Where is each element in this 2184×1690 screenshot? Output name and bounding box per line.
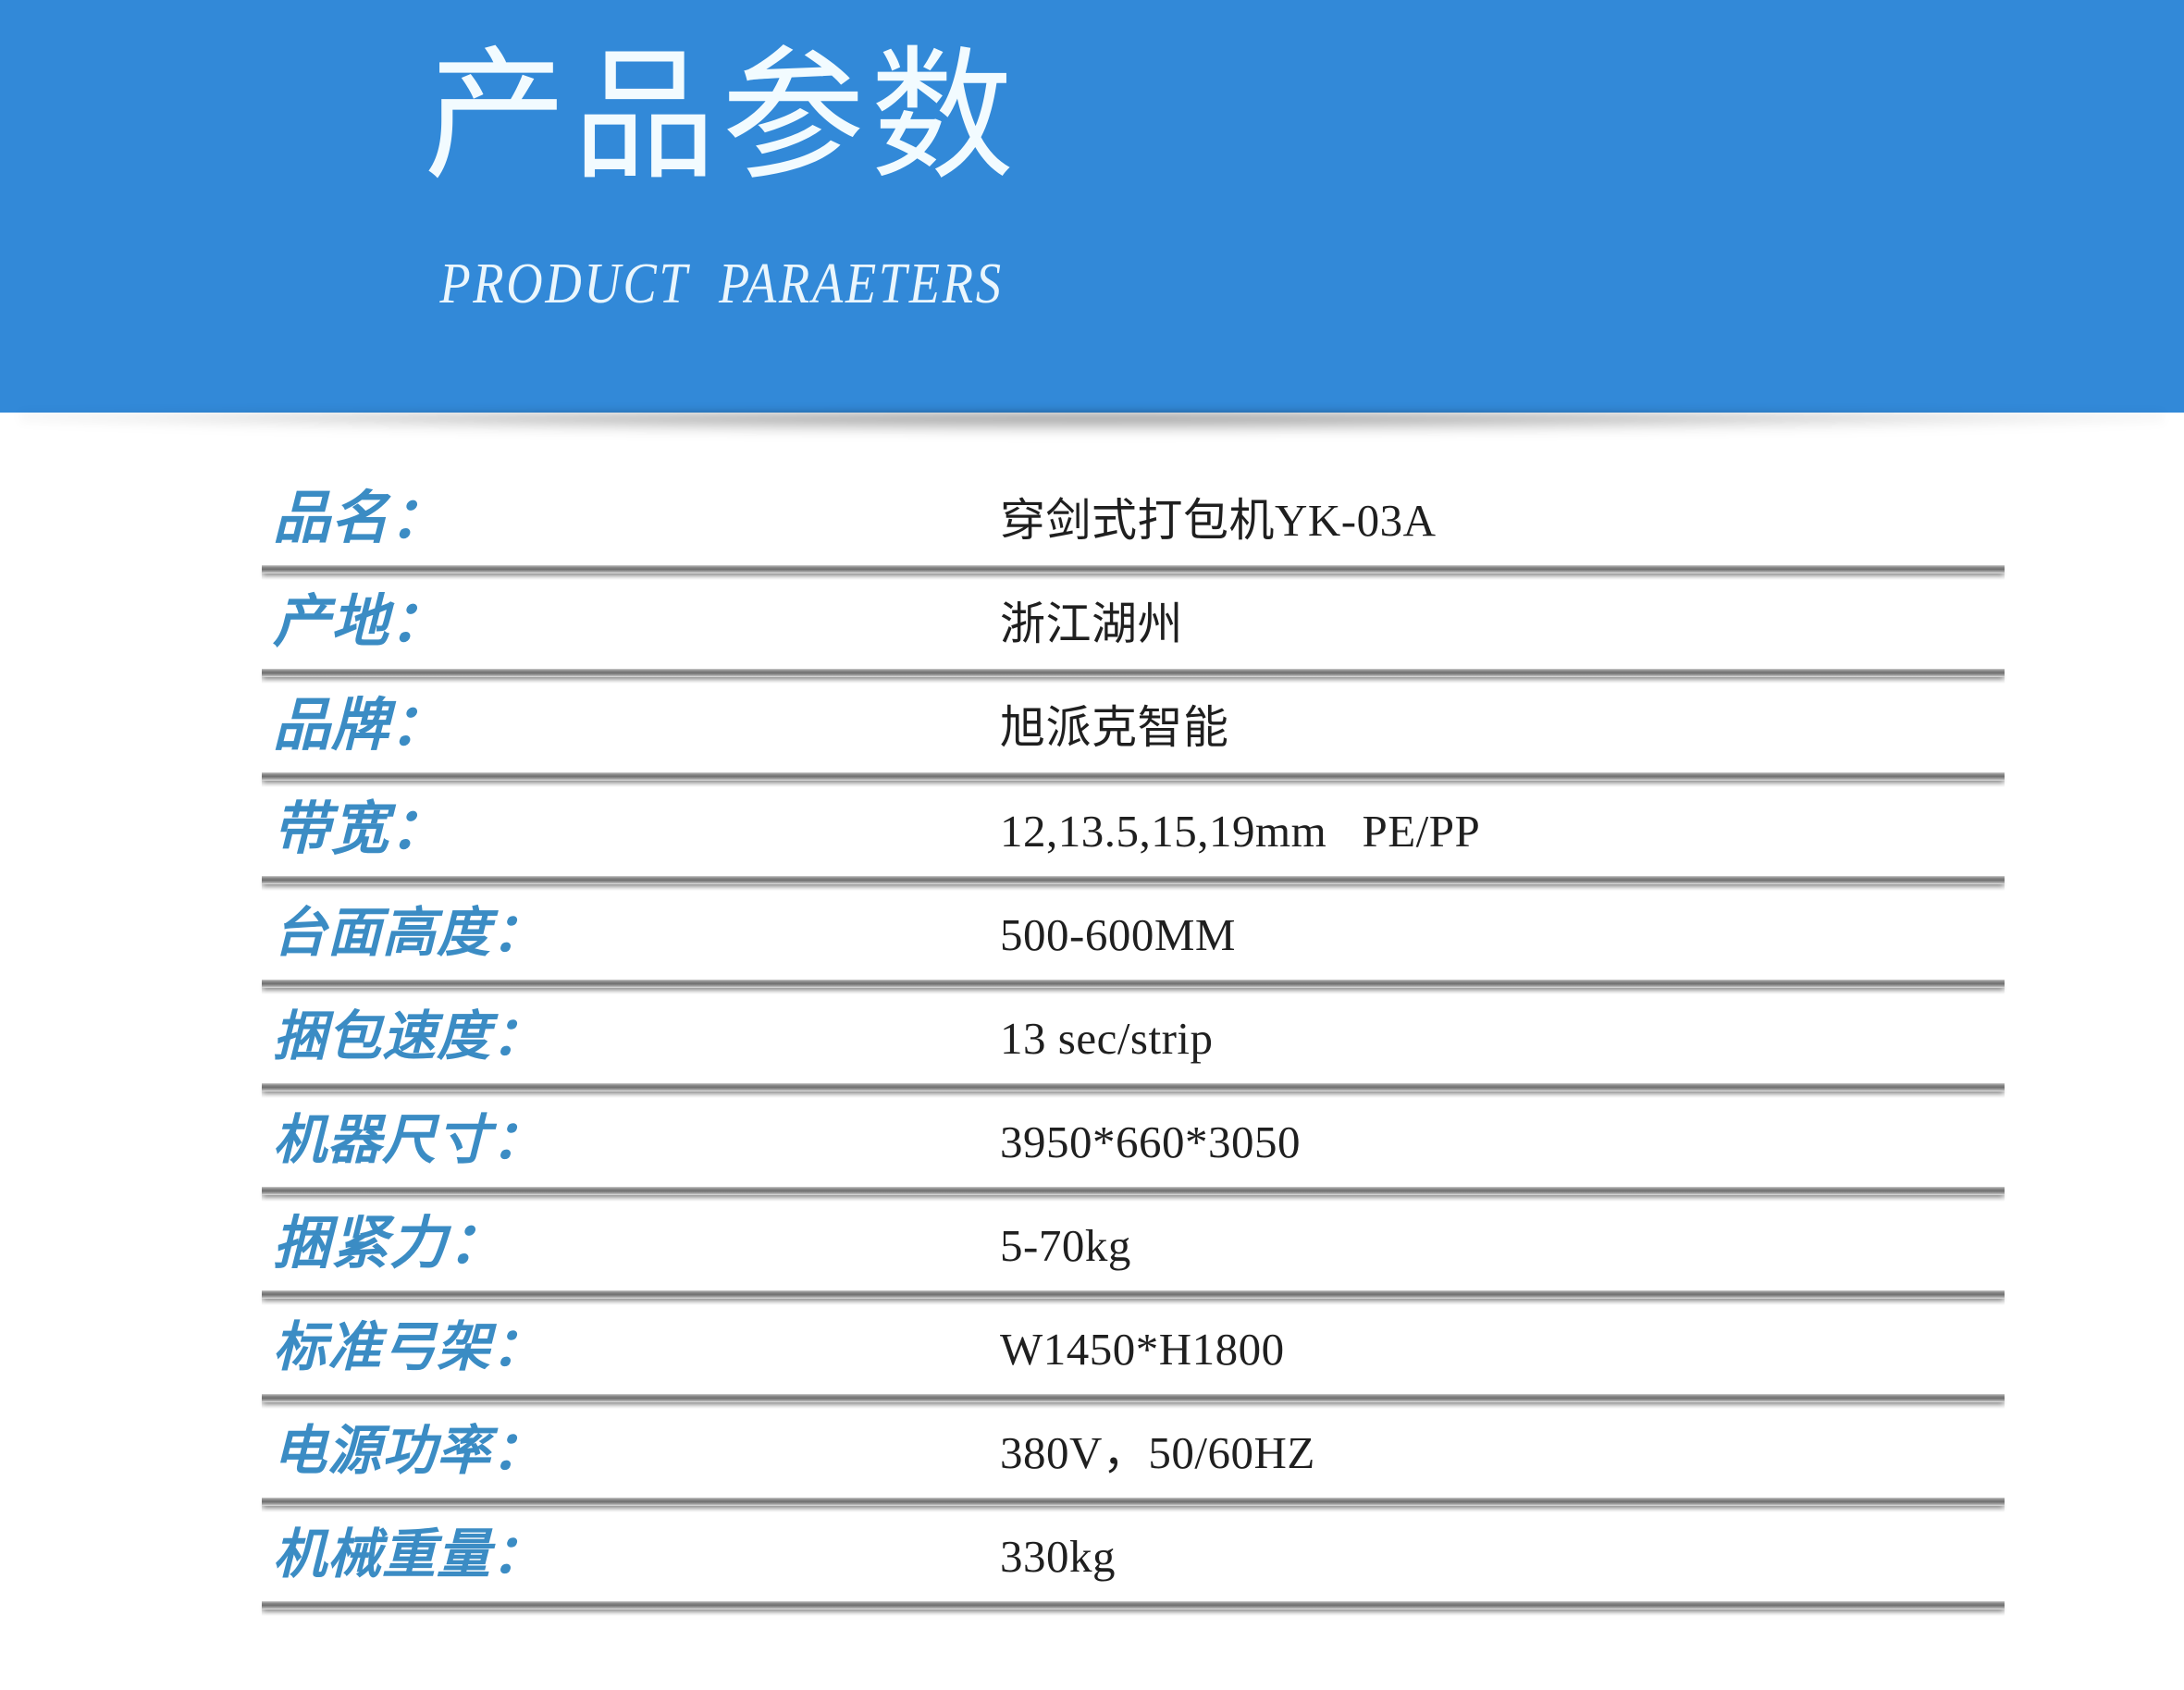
spec-row: 电源功率： 380V，50/60HZ — [262, 1402, 2005, 1506]
header-text-block: 产品参数 PRODUCT PARAETERS — [0, 0, 1443, 413]
spec-label: 带宽： — [262, 801, 587, 858]
spec-label: 电源功率： — [262, 1425, 587, 1478]
spec-label: 品牌： — [262, 697, 587, 755]
spec-label: 机械重量： — [262, 1528, 587, 1582]
spec-value: 12,13.5,15,19mm PE/PP — [587, 808, 2005, 854]
row-divider — [262, 1498, 2005, 1506]
spec-label: 品名： — [262, 490, 587, 548]
spec-value: 穿剑式打包机YK-03A — [587, 498, 2005, 543]
spec-value: 330kg — [587, 1534, 2005, 1579]
spec-label: 产地： — [262, 594, 587, 651]
spec-value: 13 sec/strip — [587, 1016, 2005, 1061]
spec-value: 旭派克智能 — [587, 705, 2005, 750]
spec-row: 品牌： 旭派克智能 — [262, 677, 2005, 781]
spec-label: 标准弓架： — [262, 1321, 587, 1375]
spec-row: 产地： 浙江湖州 — [262, 574, 2005, 677]
row-divider — [262, 1394, 2005, 1402]
row-divider — [262, 876, 2005, 884]
spec-row: 台面高度： 500-600MM — [262, 884, 2005, 988]
spec-row: 机械重量： 330kg — [262, 1506, 2005, 1610]
row-divider — [262, 565, 2005, 574]
row-divider — [262, 1187, 2005, 1195]
row-divider — [262, 772, 2005, 781]
row-divider — [262, 1290, 2005, 1299]
product-spec-table: 品名： 穿剑式打包机YK-03A 产地： 浙江湖州 品牌： 旭派克智能 带宽： … — [262, 470, 2005, 1610]
spec-value: 500-600MM — [587, 912, 2005, 957]
spec-row: 机器尺寸： 3950*660*3050 — [262, 1092, 2005, 1195]
spec-row: 品名： 穿剑式打包机YK-03A — [262, 470, 2005, 574]
row-divider — [262, 1601, 2005, 1610]
spec-value: 3950*660*3050 — [587, 1119, 2005, 1165]
page-header-banner: 产品参数 PRODUCT PARAETERS — [0, 0, 2184, 413]
spec-row: 捆紧力： 5-70kg — [262, 1195, 2005, 1299]
spec-label: 捆包速度： — [262, 1010, 587, 1064]
spec-row: 带宽： 12,13.5,15,19mm PE/PP — [262, 781, 2005, 884]
spec-label: 机器尺寸： — [262, 1114, 587, 1167]
spec-label: 捆紧力： — [262, 1215, 587, 1273]
row-divider — [262, 980, 2005, 988]
spec-value: 5-70kg — [587, 1223, 2005, 1268]
spec-row: 标准弓架： W1450*H1800 — [262, 1299, 2005, 1402]
spec-value: 浙江湖州 — [587, 601, 2005, 647]
spec-value: 380V，50/60HZ — [587, 1430, 2005, 1475]
row-divider — [262, 669, 2005, 677]
spec-value: W1450*H1800 — [587, 1326, 2005, 1372]
page-title-chinese: 产品参数 — [0, 43, 1443, 193]
spec-row: 捆包速度： 13 sec/strip — [262, 988, 2005, 1092]
spec-label: 台面高度： — [262, 907, 587, 960]
page-subtitle-english: PRODUCT PARAETERS — [87, 252, 1357, 317]
row-divider — [262, 1083, 2005, 1092]
